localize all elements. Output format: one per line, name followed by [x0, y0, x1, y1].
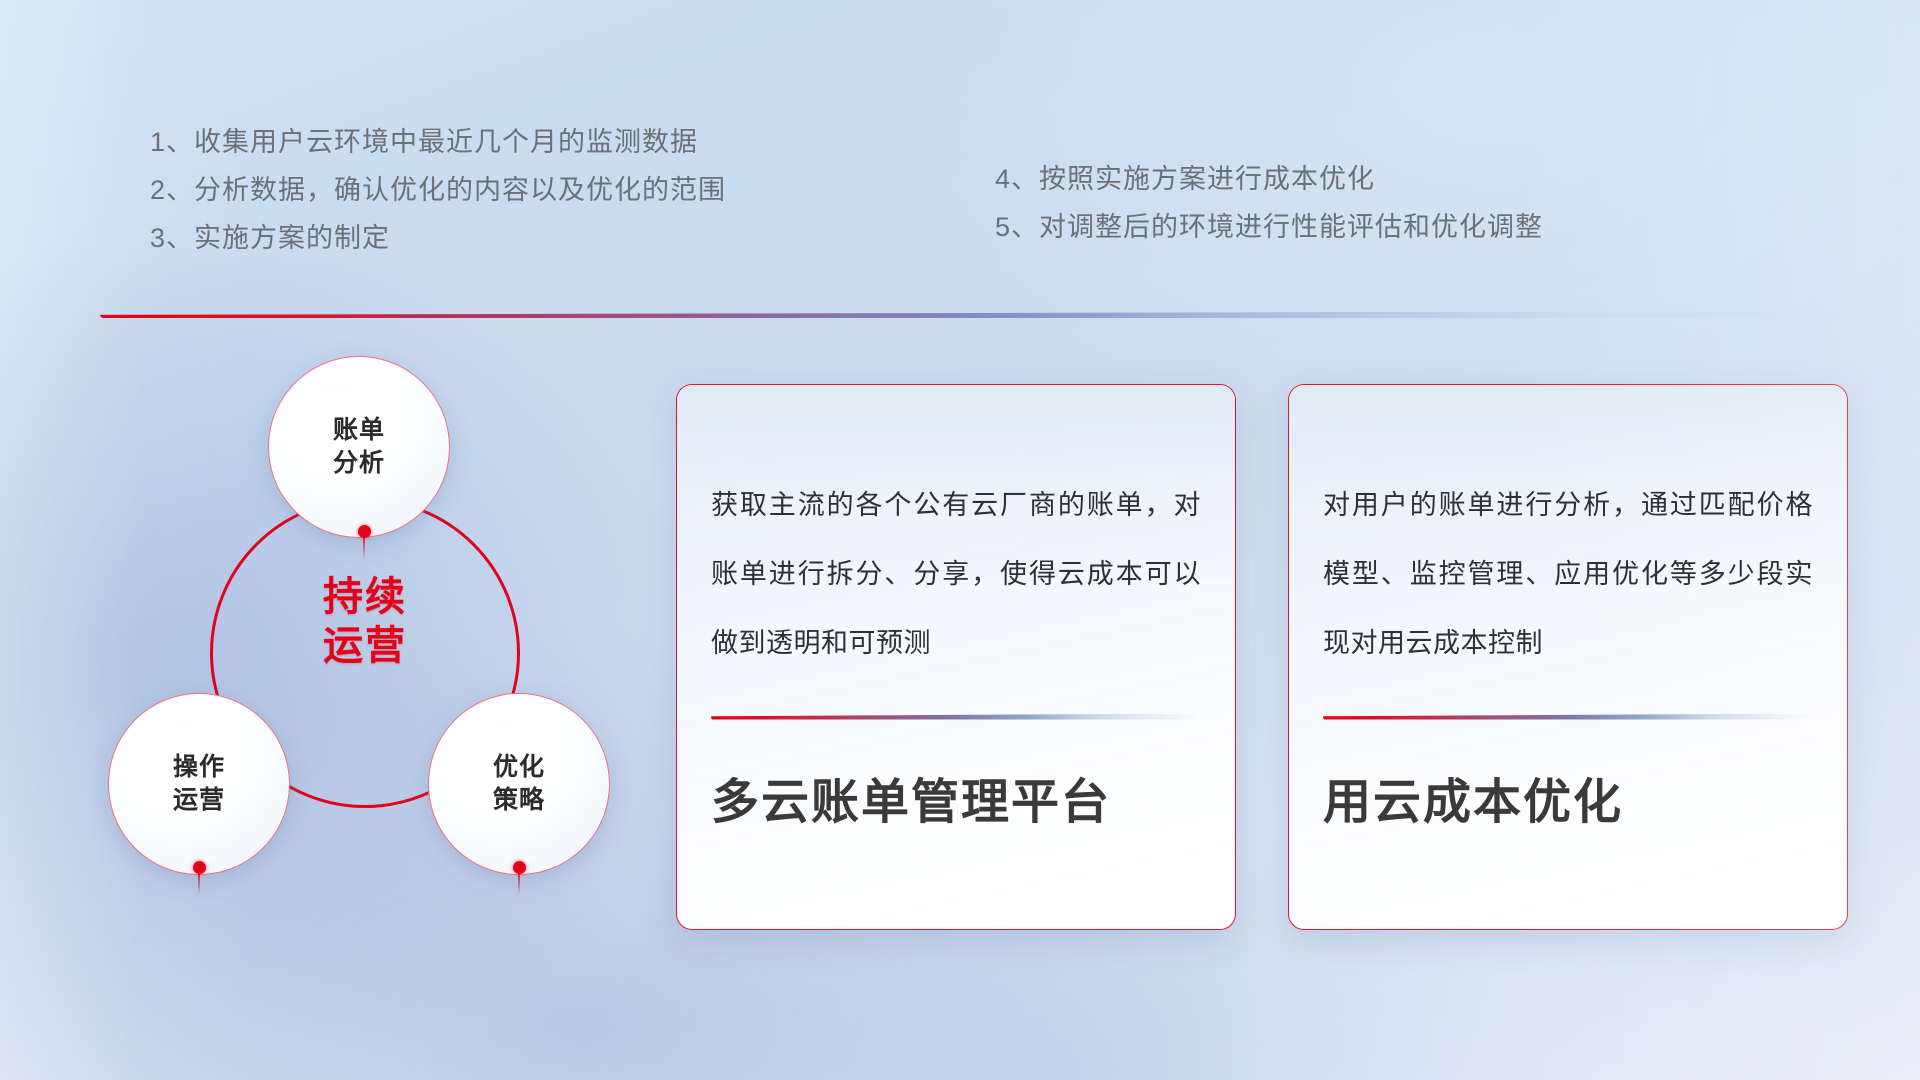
card-body-text: 获取主流的各个公有云厂商的账单，对账单进行拆分、分享，使得云成本可以做到透明和可…: [711, 471, 1201, 678]
bubble-billing-analysis[interactable]: 账单 分析: [268, 356, 450, 538]
card-title: 多云账单管理平台: [711, 774, 1201, 832]
step-item-2: 2、分析数据，确认优化的内容以及优化的范围: [150, 166, 726, 214]
connector-dot-bottom-right: [513, 861, 526, 874]
connector-tail-bottom-right: [518, 873, 520, 895]
connector-tail-top: [363, 537, 365, 559]
step-item-5: 5、对调整后的环境进行性能评估和优化调整: [995, 203, 1543, 251]
continuous-operations-diagram: 账单 分析 操作 运营 优化 策略 持续 运营: [100, 348, 660, 948]
card-body-text: 对用户的账单进行分析，通过匹配价格模型、监控管理、应用优化等多少段实现对用云成本…: [1323, 471, 1813, 678]
bubble-label-line1: 操作: [173, 751, 225, 784]
steps-left-column: 1、收集用户云环境中最近几个月的监测数据 2、分析数据，确认优化的内容以及优化的…: [150, 118, 726, 262]
card-divider: [711, 714, 1201, 720]
card-title: 用云成本优化: [1323, 774, 1813, 832]
steps-right-column: 4、按照实施方案进行成本优化 5、对调整后的环境进行性能评估和优化调整: [995, 155, 1543, 251]
connector-tail-bottom-left: [198, 873, 200, 895]
connector-dot-top: [358, 525, 371, 538]
bubble-label-line1: 优化: [493, 751, 545, 784]
bubble-operations[interactable]: 操作 运营: [108, 693, 290, 875]
card-multi-cloud-billing-platform[interactable]: 获取主流的各个公有云厂商的账单，对账单进行拆分、分享，使得云成本可以做到透明和可…: [676, 384, 1236, 930]
bubble-label-line2: 分析: [333, 447, 385, 480]
connector-dot-bottom-left: [193, 861, 206, 874]
header-divider: [100, 311, 1860, 318]
step-item-3: 3、实施方案的制定: [150, 214, 726, 262]
bubble-label-line2: 运营: [173, 784, 225, 817]
step-item-4: 4、按照实施方案进行成本优化: [995, 155, 1543, 203]
bubble-label-line2: 策略: [493, 784, 545, 817]
bubble-label-line1: 账单: [333, 414, 385, 447]
card-divider: [1323, 714, 1813, 720]
card-cloud-cost-optimization[interactable]: 对用户的账单进行分析，通过匹配价格模型、监控管理、应用优化等多少段实现对用云成本…: [1288, 384, 1848, 930]
step-item-1: 1、收集用户云环境中最近几个月的监测数据: [150, 118, 726, 166]
bubble-optimization-strategy[interactable]: 优化 策略: [428, 693, 610, 875]
diagram-center-label: 持续 运营: [210, 573, 520, 671]
center-label-line1: 持续: [210, 573, 520, 622]
center-label-line2: 运营: [210, 622, 520, 671]
slide-canvas: 1、收集用户云环境中最近几个月的监测数据 2、分析数据，确认优化的内容以及优化的…: [0, 0, 1920, 1080]
